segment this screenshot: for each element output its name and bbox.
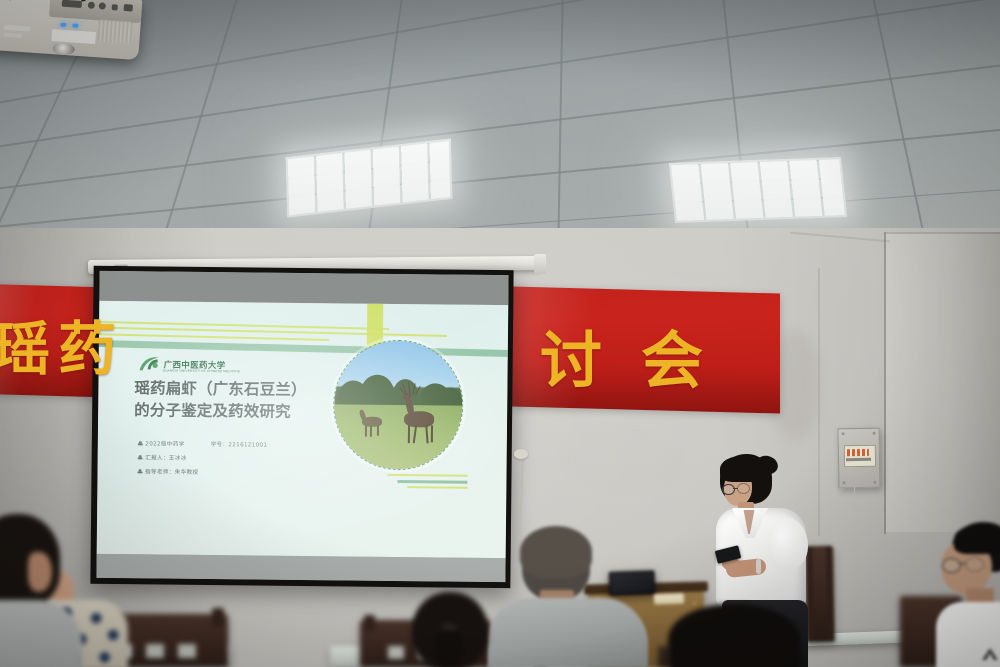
audience-woman-ponytail [398,592,502,667]
university-logo: 广西中医药大学 GUANGXI UNIVERSITY OF CHINESE ME… [139,355,226,373]
screen-surface: 广西中医药大学 GUANGXI UNIVERSITY OF CHINESE ME… [96,271,508,582]
audience-man-left-front [0,514,86,667]
deer-in-meadow-photo [333,339,464,470]
audience-hair [520,526,592,578]
slide-meta-presenter: 汇报人：王冰冰 [145,453,187,461]
deer-figure-main [396,389,441,445]
slide-meta-row-advisor: 指导老师：朱华教授 [137,467,198,476]
presenter-fringe [720,456,762,482]
audience-shirt [0,600,82,667]
slide-meta-row-presenter: 汇报人：王冰冰 [138,453,187,462]
person-icon [138,441,143,446]
slide-title-line-2: 的分子鉴定及药效研究 [134,401,291,422]
slide-meta-student-id: 学号：2216121001 [211,440,268,449]
banner-right-text: 讨 会 [540,310,712,400]
person-icon [138,455,143,460]
audience-glasses [965,557,984,572]
projection-screen: 广西中医药大学 GUANGXI UNIVERSITY OF CHINESE ME… [90,266,513,588]
projector-status-led [72,23,78,27]
slide-deco-line-3 [97,333,329,340]
ceiling-projector [0,0,172,74]
presenter-sleeve [768,518,808,570]
audience-man-right-glasses [930,522,1000,667]
audience-shirt [488,598,648,667]
electrical-breaker-box[interactable] [837,428,880,489]
slide-deco-bar-3 [407,486,467,489]
audience-man-gray-shirt [488,528,648,667]
university-logo-subtitle: GUANGXI UNIVERSITY OF CHINESE MEDICINE [163,369,241,374]
slide-title-line-1: 瑶药扁虾（广东石豆兰） [134,379,306,401]
audience-glasses [942,558,961,573]
slide-meta-row-class: 2022级中药学 学号：2216121001 [138,439,268,448]
audience-head-center-right [668,604,800,667]
audience-head [668,604,800,667]
deer-figure-secondary [358,409,388,441]
slide-deco-bar-1 [387,474,467,477]
university-logo-icon [139,355,161,372]
person-icon [138,469,143,474]
presenter-glasses [722,484,735,495]
presenter-glasses [737,483,750,494]
banner-left-text: 瑶药 [0,302,124,386]
papers-on-podium [654,593,684,604]
audience-tshirt [936,602,1000,667]
presenter-bracelet [756,559,761,574]
slide-meta-class: 2022级中药学 [145,439,184,447]
slide-meta-advisor: 指导老师：朱华教授 [145,467,198,476]
cable-hook [514,449,528,459]
letterbox-bottom [96,554,505,582]
lecture-room-screenshot: 瑶药 讨 会 [0,0,1000,667]
projector-power-led [60,23,66,27]
slide-content: 广西中医药大学 GUANGXI UNIVERSITY OF CHINESE ME… [97,301,509,558]
slide-deco-bar-2 [397,480,467,484]
letterbox-top [99,271,508,305]
